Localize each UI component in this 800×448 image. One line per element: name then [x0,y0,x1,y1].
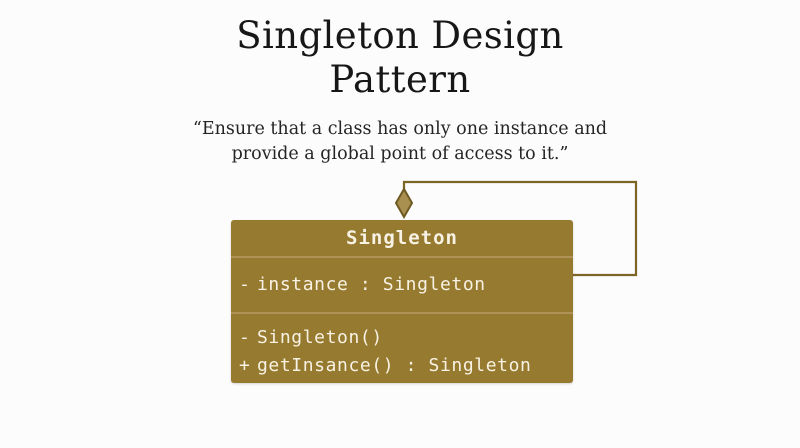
attribute-visibility: - [239,271,257,299]
attribute-signature: instance : Singleton [257,274,486,295]
subtitle-line-2: provide a global point of access to it.” [0,142,800,167]
class-name-label: Singleton [346,227,458,249]
operation-row: +getInsance() : Singleton [239,352,573,380]
operation-signature: getInsance() : Singleton [257,355,532,376]
subtitle-quote: “Ensure that a class has only one instan… [0,117,800,167]
attribute-row: -instance : Singleton [239,271,486,299]
aggregation-diamond-icon [396,189,412,217]
class-name-compartment: Singleton [231,220,573,256]
page-title: Singleton Design Pattern [0,14,800,102]
title-line-1: Singleton Design [0,14,800,58]
subtitle-line-1: “Ensure that a class has only one instan… [0,117,800,142]
class-attributes-compartment: -instance : Singleton [231,258,573,312]
operation-visibility: + [239,352,257,380]
operation-signature: Singleton() [257,327,383,348]
operation-row: -Singleton() [239,324,573,352]
slide-canvas: Singleton Design Pattern “Ensure that a … [0,0,800,448]
title-line-2: Pattern [0,58,800,102]
uml-class-singleton[interactable]: Singleton -instance : Singleton -Singlet… [231,220,573,383]
operation-visibility: - [239,324,257,352]
class-operations-compartment: -Singleton() +getInsance() : Singleton [231,314,573,380]
